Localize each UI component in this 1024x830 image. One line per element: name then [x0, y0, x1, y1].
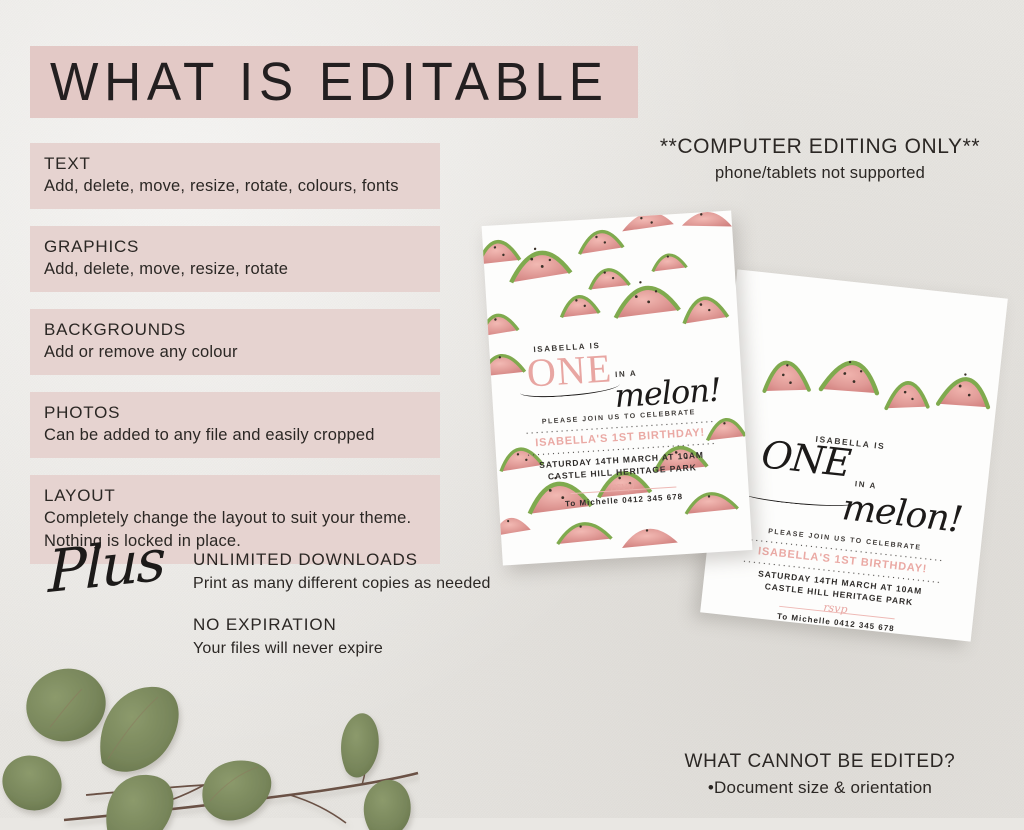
feature-title: GRAPHICS: [44, 235, 440, 258]
feature-row-graphics: GRAPHICS Add, delete, move, resize, rota…: [30, 226, 440, 292]
perk-unlimited-downloads: UNLIMITED DOWNLOADS Print as many differ…: [193, 548, 523, 595]
feature-title: LAYOUT: [44, 484, 440, 507]
cannot-be-edited-note: WHAT CANNOT BE EDITED? •Document size & …: [624, 748, 1016, 800]
perk-title: UNLIMITED DOWNLOADS: [193, 548, 523, 572]
feature-title: PHOTOS: [44, 401, 440, 424]
feature-desc: Can be added to any file and easily crop…: [44, 424, 440, 447]
invite-word-one: ONE: [760, 435, 853, 482]
perk-title: NO EXPIRATION: [193, 613, 523, 637]
page-title: WHAT IS EDITABLE: [50, 44, 609, 120]
invite-rsvp: rsvp: [610, 479, 635, 493]
feature-row-photos: PHOTOS Can be added to any file and easi…: [30, 392, 440, 458]
note-sub: phone/tablets not supported: [624, 161, 1016, 185]
feature-desc: Add, delete, move, resize, rotate: [44, 258, 440, 281]
feature-title: BACKGROUNDS: [44, 318, 440, 341]
note-sub: •Document size & orientation: [624, 775, 1016, 800]
plus-label: Plus: [48, 530, 164, 601]
invite-rsvp: rsvp: [823, 601, 848, 617]
feature-title: TEXT: [44, 152, 440, 175]
feature-desc: Add, delete, move, resize, rotate, colou…: [44, 175, 440, 198]
feature-row-text: TEXT Add, delete, move, resize, rotate, …: [30, 143, 440, 209]
note-main: **COMPUTER EDITING ONLY**: [624, 133, 1016, 161]
header-banner: WHAT IS EDITABLE: [30, 46, 638, 118]
note-main: WHAT CANNOT BE EDITED?: [624, 748, 1016, 775]
editable-features-list: TEXT Add, delete, move, resize, rotate, …: [30, 143, 440, 581]
invitation-card-front[interactable]: ISABELLA IS ONE IN A melon! PLEASE JOIN …: [482, 210, 753, 565]
eucalyptus-branch: [0, 645, 420, 830]
plus-script-wordmark: Plus: [48, 543, 165, 601]
perk-desc: Print as many different copies as needed: [193, 572, 523, 595]
feature-row-backgrounds: BACKGROUNDS Add or remove any colour: [30, 309, 440, 375]
computer-editing-note: **COMPUTER EDITING ONLY** phone/tablets …: [624, 133, 1016, 185]
feature-desc: Add or remove any colour: [44, 341, 440, 364]
